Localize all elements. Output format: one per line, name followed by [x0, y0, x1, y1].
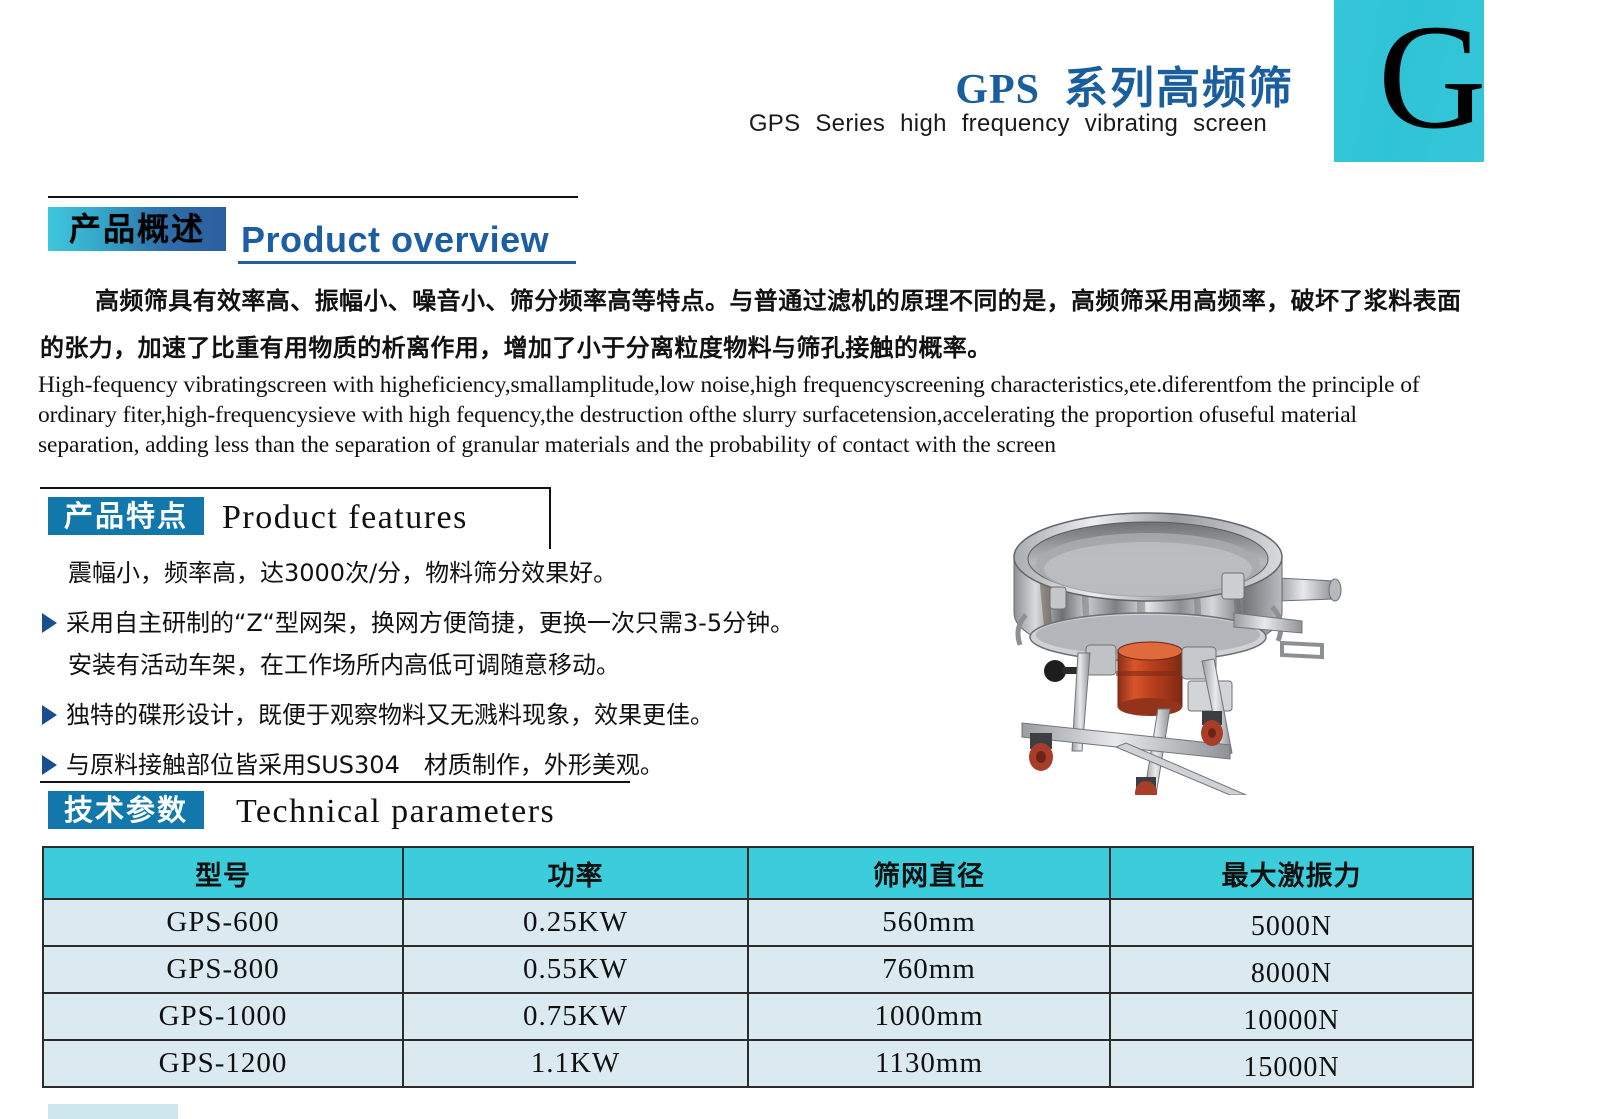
features-rule-vertical	[549, 487, 551, 549]
technical-badge: 技术参数	[48, 791, 204, 829]
cell-screen-diameter: 560mm	[748, 899, 1110, 946]
overview-paragraph-en: High-fequency vibratingscreen with highe…	[38, 370, 1458, 460]
overview-heading-underline	[238, 261, 576, 264]
product-photo	[930, 495, 1350, 795]
table-header-cell: 型号	[43, 847, 403, 899]
overview-paragraph-zh: 高频筛具有效率高、振幅小、噪音小、筛分频率高等特点。与普通过滤机的原理不同的是，…	[40, 278, 1470, 372]
page-title: GPS系列高频筛	[955, 52, 1294, 116]
page-subtitle-en: GPS Series high frequency vibrating scre…	[749, 110, 1267, 138]
feature-item: 与原料接触部位皆采用SUS304 材质制作，外形美观。	[42, 744, 942, 786]
cell-model: GPS-1200	[43, 1040, 403, 1087]
logo-letter-g: G	[1378, 2, 1548, 152]
cell-screen-diameter: 760mm	[748, 946, 1110, 993]
feature-text: 与原料接触部位皆采用SUS304 材质制作，外形美观。	[66, 751, 664, 779]
table-header-cell: 筛网直径	[748, 847, 1110, 899]
product-photo-illustration	[930, 495, 1350, 795]
table-row: GPS-1200 1.1KW 1130mm 15000N	[43, 1040, 1473, 1087]
table-header-cell: 功率	[403, 847, 748, 899]
cell-power: 0.55KW	[403, 946, 748, 993]
table-row: GPS-1000 0.75KW 1000mm 10000N	[43, 993, 1473, 1040]
technical-parameters-table: 型号 功率 筛网直径 最大激振力 GPS-600 0.25KW 560mm 50…	[42, 846, 1474, 1088]
feature-text-line2: 安装有活动车架，在工作场所内高低可调随意移动。	[66, 644, 942, 686]
overview-top-rule	[48, 196, 578, 198]
table-header-cell: 最大激振力	[1110, 847, 1473, 899]
table-row: GPS-800 0.55KW 760mm 8000N	[43, 946, 1473, 993]
features-list: 震幅小，频率高，达3000次/分，物料筛分效果好。 采用自主研制的“Z“型网架，…	[42, 552, 942, 794]
cell-model: GPS-600	[43, 899, 403, 946]
cell-power: 0.25KW	[403, 899, 748, 946]
cell-model: GPS-1000	[43, 993, 403, 1040]
cell-screen-diameter: 1130mm	[748, 1040, 1110, 1087]
cell-max-exciting-force: 8000N	[1110, 946, 1473, 993]
cell-model: GPS-800	[43, 946, 403, 993]
overview-heading-en: Product overview	[241, 219, 549, 261]
cell-max-exciting-force: 15000N	[1110, 1040, 1473, 1087]
triangle-bullet-icon	[42, 755, 57, 775]
feature-item: 震幅小，频率高，达3000次/分，物料筛分效果好。	[42, 552, 942, 594]
feature-text: 震幅小，频率高，达3000次/分，物料筛分效果好。	[68, 559, 617, 587]
cell-power: 1.1KW	[403, 1040, 748, 1087]
feature-text: 采用自主研制的“Z“型网架，换网方便简捷，更换一次只需3-5分钟。	[66, 609, 794, 637]
cell-max-exciting-force: 10000N	[1110, 993, 1473, 1040]
table-header-row: 型号 功率 筛网直径 最大激振力	[43, 847, 1473, 899]
title-gps-text: GPS	[955, 67, 1040, 113]
feature-text: 独特的碟形设计，既便于观察物料又无溅料现象，效果更佳。	[66, 701, 714, 729]
table-row: GPS-600 0.25KW 560mm 5000N	[43, 899, 1473, 946]
features-heading-en: Product features	[222, 499, 468, 537]
footer-accent-strip	[48, 1104, 178, 1119]
cell-power: 0.75KW	[403, 993, 748, 1040]
features-top-rule	[40, 487, 550, 489]
technical-heading-en: Technical parameters	[236, 793, 555, 831]
overview-badge: 产品概述	[48, 207, 226, 251]
triangle-bullet-icon	[42, 705, 57, 725]
triangle-bullet-icon	[42, 613, 57, 633]
technical-top-rule	[40, 781, 630, 783]
cell-screen-diameter: 1000mm	[748, 993, 1110, 1040]
features-badge: 产品特点	[48, 497, 204, 535]
page-header: G GPS系列高频筛 GPS Series high frequency vib…	[0, 0, 1612, 166]
feature-item: 采用自主研制的“Z“型网架，换网方便简捷，更换一次只需3-5分钟。 安装有活动车…	[42, 602, 942, 686]
title-chinese-text: 系列高频筛	[1064, 63, 1294, 114]
feature-item: 独特的碟形设计，既便于观察物料又无溅料现象，效果更佳。	[42, 694, 942, 736]
cell-max-exciting-force: 5000N	[1110, 899, 1473, 946]
